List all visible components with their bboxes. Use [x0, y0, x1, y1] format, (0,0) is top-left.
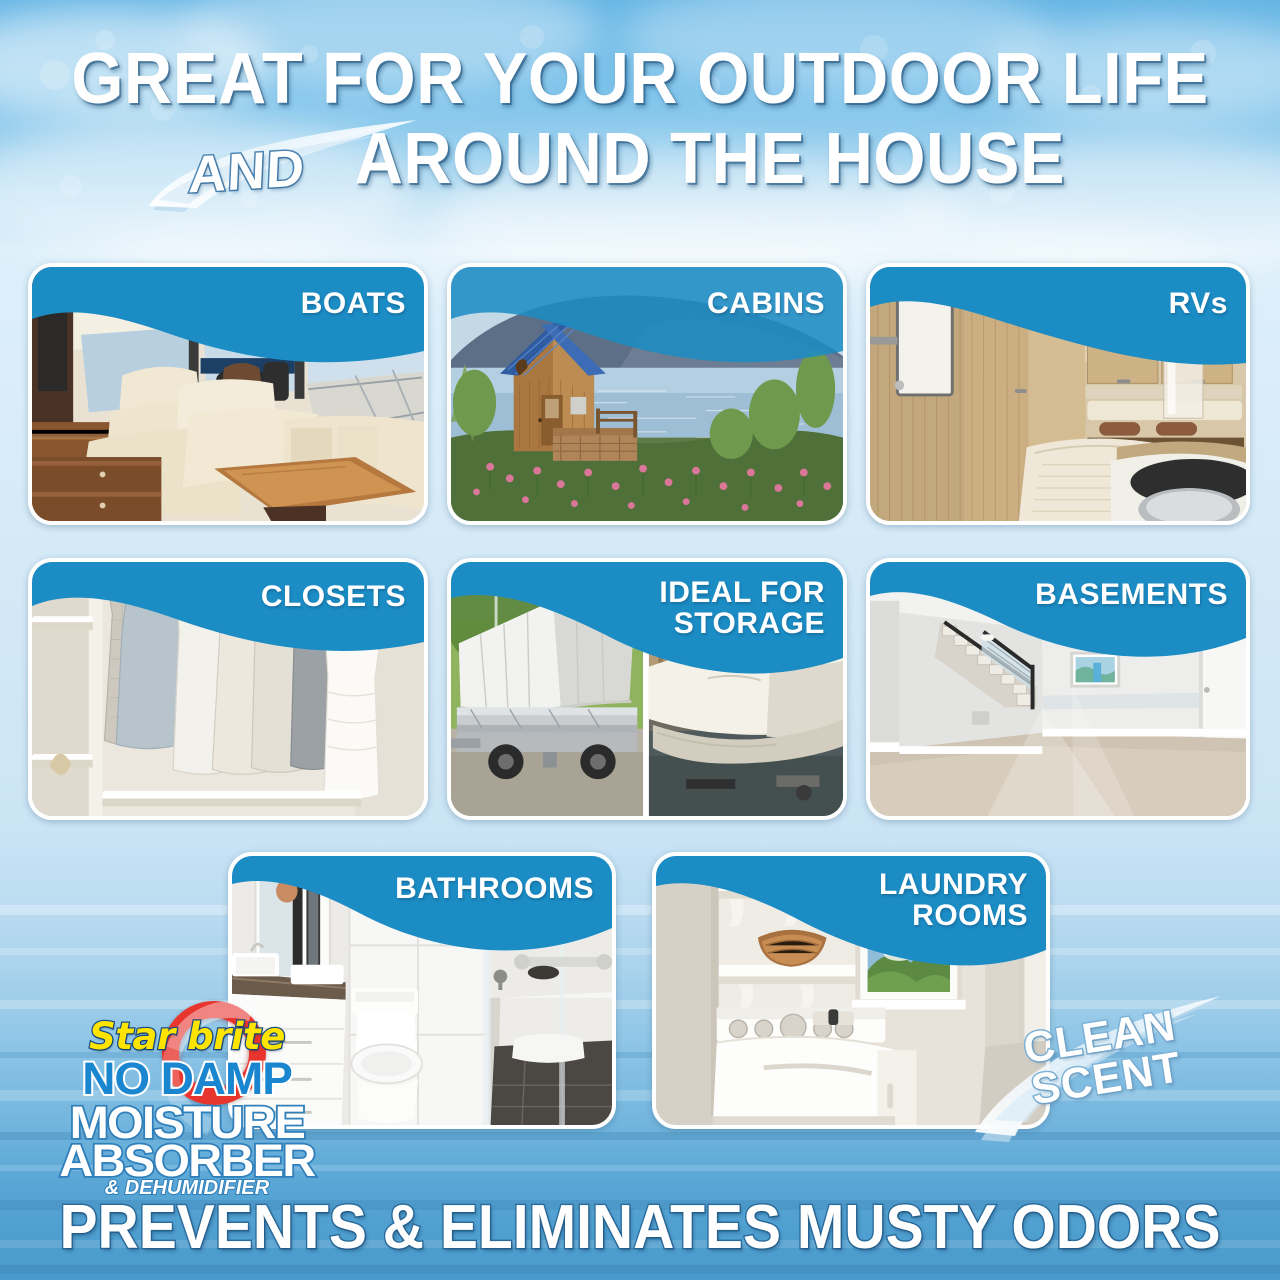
headline-line-2: AROUND THE HOUSE	[45, 118, 1235, 200]
card-label-closets: CLOSETS	[261, 582, 406, 613]
card-label-boats: BOATS	[301, 289, 406, 320]
feature-card-rvs[interactable]: RVs	[866, 263, 1250, 525]
feature-card-cabins[interactable]: CABINS	[447, 263, 847, 525]
card-label-laundry: LAUNDRY ROOMS	[879, 870, 1028, 931]
card-label-cabins: CABINS	[707, 289, 825, 320]
feature-card-boats[interactable]: BOATS	[28, 263, 428, 525]
card-label-rvs: RVs	[1169, 289, 1228, 320]
clean-scent-badge: CLEAN SCENT	[975, 990, 1225, 1150]
headline-line-1: GREAT FOR YOUR OUTDOOR LIFE	[45, 38, 1235, 120]
product-logo: Star brite NO DAMP MOISTURE ABSORBER & D…	[52, 1005, 322, 1185]
brand-name: Star brite	[52, 1015, 322, 1058]
poster-canvas: GREAT FOR YOUR OUTDOOR LIFE AND AROUND T…	[0, 0, 1280, 1280]
feature-card-closets[interactable]: CLOSETS	[28, 558, 428, 820]
card-label-bathrooms: BATHROOMS	[395, 874, 594, 905]
feature-card-storage[interactable]: IDEAL FOR STORAGE	[447, 558, 847, 820]
card-label-storage: IDEAL FOR STORAGE	[659, 578, 825, 639]
card-label-basements: BASEMENTS	[1035, 580, 1228, 611]
feature-card-basements[interactable]: BASEMENTS	[866, 558, 1250, 820]
footer-tagline: PREVENTS & ELIMINATES MUSTY ODORS	[51, 1192, 1229, 1263]
